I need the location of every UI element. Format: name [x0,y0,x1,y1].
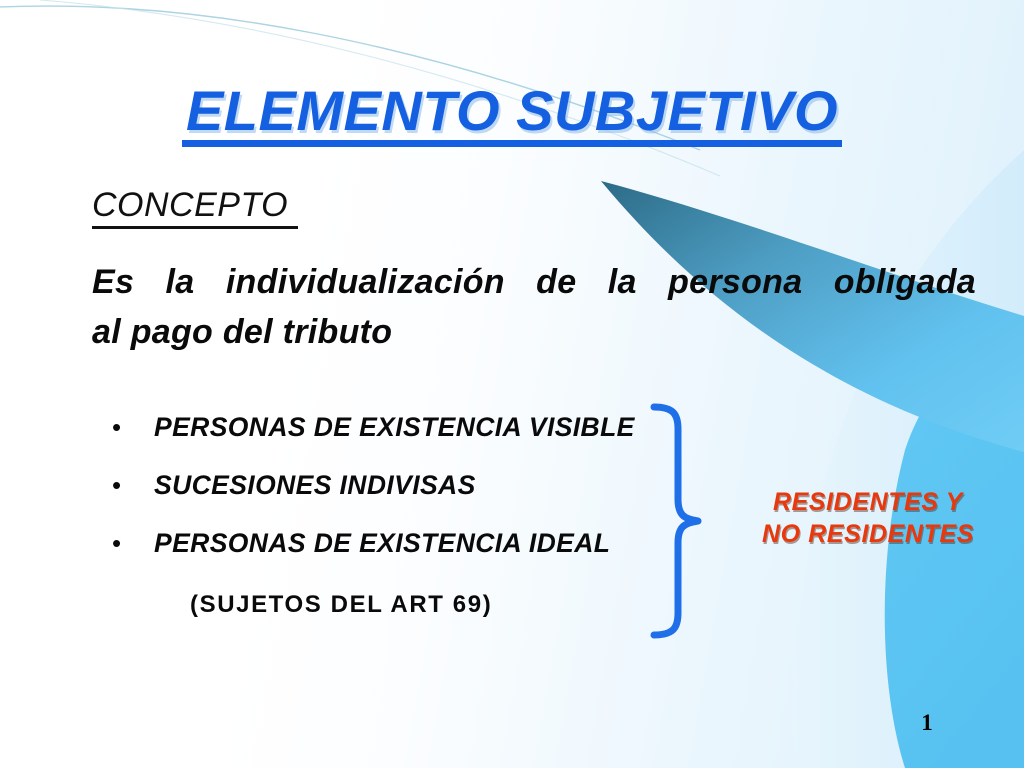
presentation-slide: ELEMENTO SUBJETIVO CONCEPTO Es la indivi… [0,0,1024,768]
pale-lens-shape [793,150,1024,768]
bullet-label: PERSONAS DE EXISTENCIA VISIBLE [154,412,635,443]
definition-paragraph: Es la individualización de la persona ob… [92,258,976,358]
list-item: • PERSONAS DE EXISTENCIA IDEAL [112,528,672,559]
curly-brace-icon [640,395,730,645]
definition-word: de [536,258,576,308]
subnote-text: (SUJETOS DEL ART 69) [190,591,492,619]
bullet-label: PERSONAS DE EXISTENCIA IDEAL [154,528,610,559]
definition-word: Es [92,258,134,308]
list-item: • SUCESIONES INDIVISAS [112,470,672,501]
definition-word: individualización [226,258,505,308]
bullet-list: • PERSONAS DE EXISTENCIA VISIBLE • SUCES… [112,412,672,586]
definition-word: obligada [834,258,976,308]
definition-line-1: Es la individualización de la persona ob… [92,258,976,308]
definition-word: la [166,258,195,308]
bullet-dot-icon: • [112,530,154,556]
page-number: 1 [912,710,942,736]
page-title: ELEMENTO SUBJETIVO [182,82,842,147]
definition-word: persona [668,258,802,308]
bullet-dot-icon: • [112,472,154,498]
bullet-label: SUCESIONES INDIVISAS [154,470,476,501]
title-block: ELEMENTO SUBJETIVO [0,82,1024,147]
list-item: • PERSONAS DE EXISTENCIA VISIBLE [112,412,672,443]
callout-line-2: NO RESIDENTES [742,518,994,550]
definition-word: la [608,258,637,308]
bullet-dot-icon: • [112,414,154,440]
section-heading-concepto: CONCEPTO [92,186,298,229]
callout-line-1: RESIDENTES Y [742,486,994,518]
callout-residentes: RESIDENTES Y NO RESIDENTES [742,486,994,550]
definition-line-2: al pago del tributo [92,308,976,358]
